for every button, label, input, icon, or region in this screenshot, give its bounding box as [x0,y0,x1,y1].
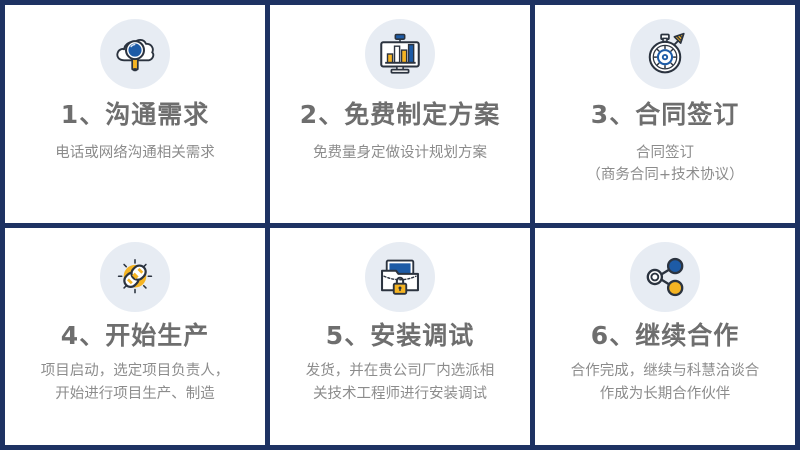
monitor-chart-icon [365,19,435,89]
step-card-4[interactable]: 4、开始生产 项目启动，选定项目负责人， 开始进行项目生产、制造 [5,228,265,446]
step-description: 电话或网络沟通相关需求 [45,142,225,164]
step-title: 3、合同签订 [591,101,739,130]
step-description: 免费量身定做设计规划方案 [303,142,497,164]
step-card-1[interactable]: 1、沟通需求 电话或网络沟通相关需求 [5,5,265,223]
step-card-5[interactable]: 5、安装调试 发货，并在贵公司厂内选派相 关技术工程师进行安装调试 [270,228,530,446]
cloud-search-icon [100,19,170,89]
stopwatch-target-icon [630,19,700,89]
step-title: 5、安装调试 [326,322,474,351]
chain-link-icon [100,242,170,312]
step-title: 2、免费制定方案 [300,101,500,130]
step-description: 合同签订 （商务合同+技术协议） [576,142,753,187]
step-card-2[interactable]: 2、免费制定方案 免费量身定做设计规划方案 [270,5,530,223]
step-card-3[interactable]: 3、合同签订 合同签订 （商务合同+技术协议） [535,5,795,223]
step-description: 合作完成，继续与科慧洽谈合 作成为长期合作伙伴 [561,360,770,405]
share-network-icon [630,242,700,312]
step-card-6[interactable]: 6、继续合作 合作完成，继续与科慧洽谈合 作成为长期合作伙伴 [535,228,795,446]
step-description: 发货，并在贵公司厂内选派相 关技术工程师进行安装调试 [296,360,505,405]
process-steps-grid: 1、沟通需求 电话或网络沟通相关需求 2、免费 [0,0,800,450]
step-description: 项目启动，选定项目负责人， 开始进行项目生产、制造 [31,360,240,405]
step-title: 6、继续合作 [591,322,739,351]
folder-lock-icon [365,242,435,312]
step-title: 1、沟通需求 [61,101,209,130]
step-title: 4、开始生产 [61,322,209,351]
